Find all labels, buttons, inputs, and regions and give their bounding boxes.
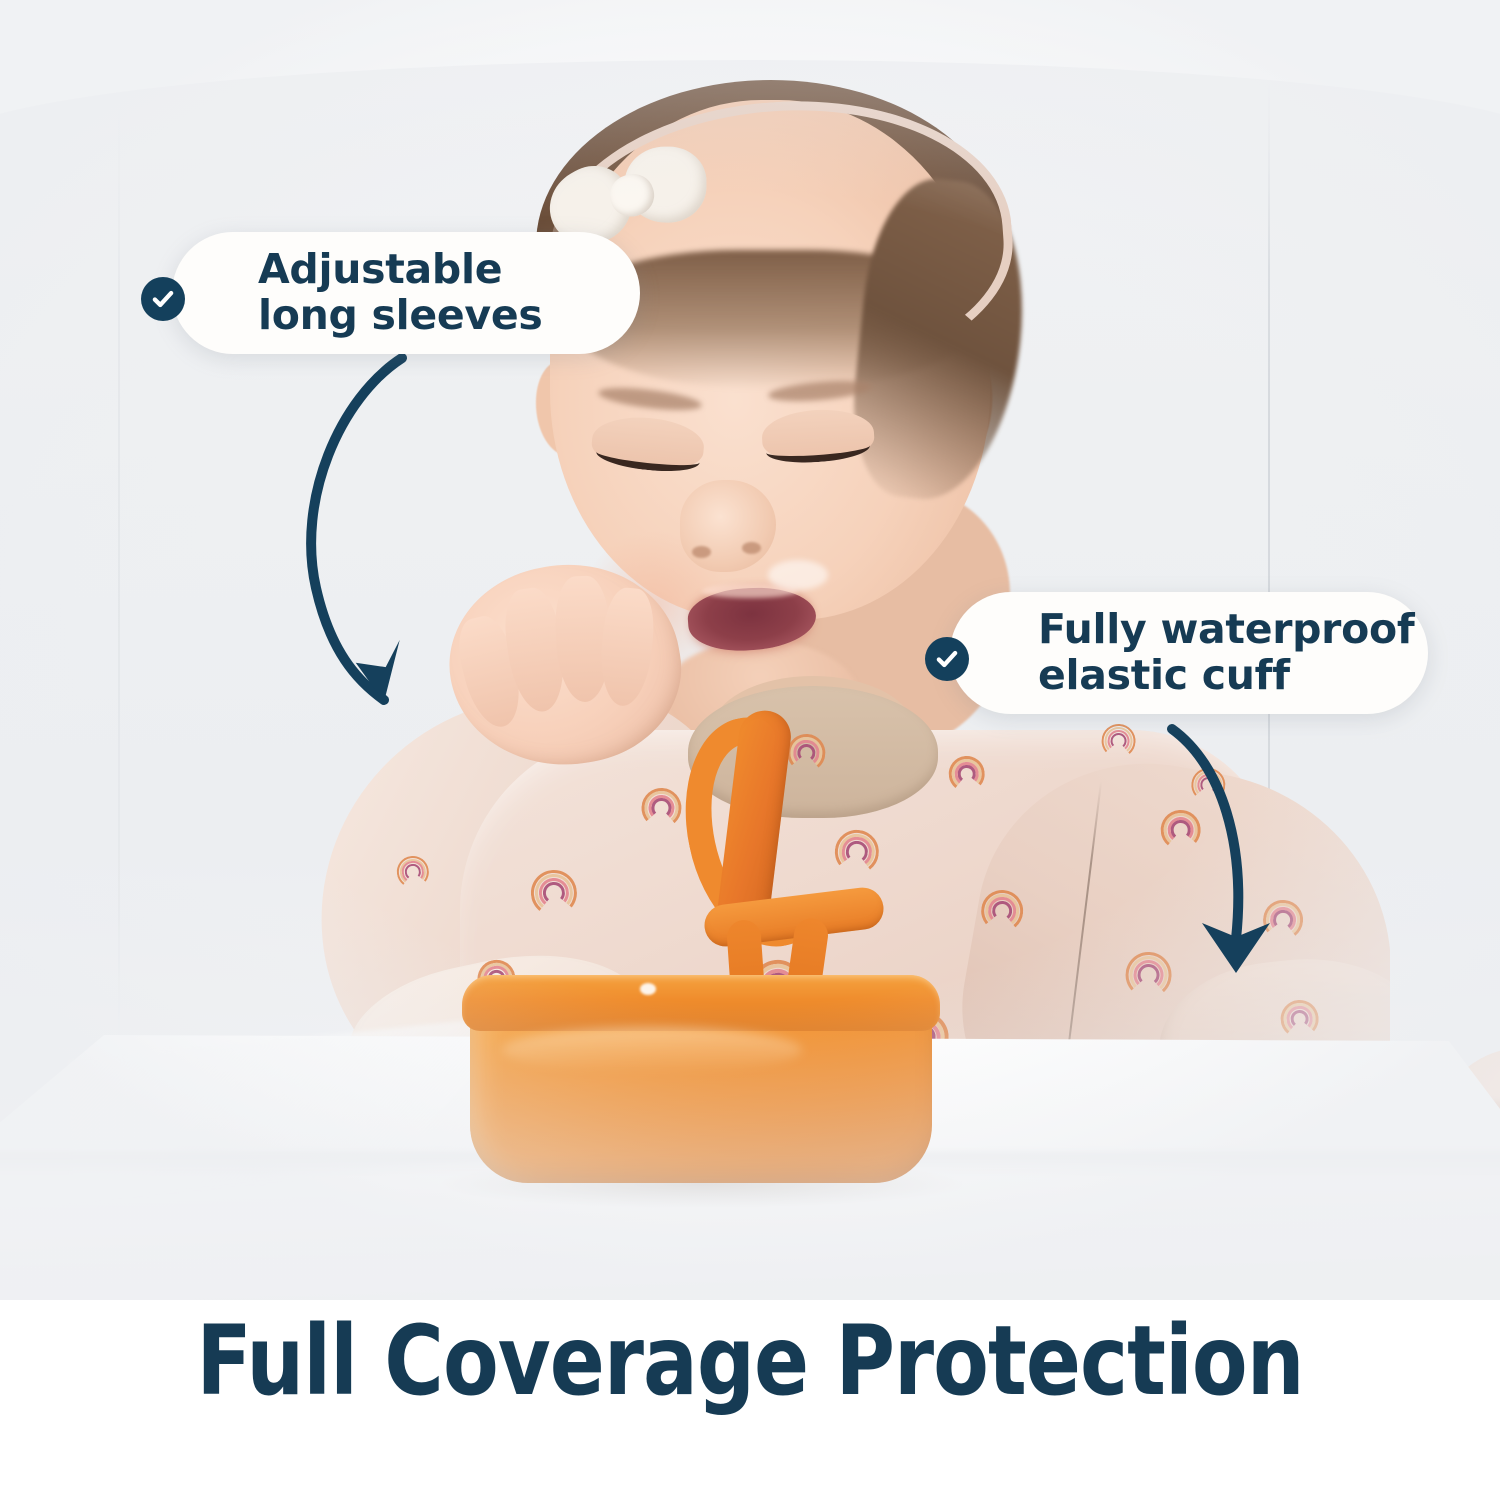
callout-fully-waterproof-elastic-cuff[interactable]: Fully waterproof elastic cuff: [950, 592, 1428, 714]
callout-sleeves-line1: Adjustable: [258, 247, 542, 293]
callout-cuff-text: Fully waterproof elastic cuff: [1038, 607, 1414, 699]
check-circle-icon: [141, 277, 185, 321]
check-circle-icon: [925, 637, 969, 681]
callout-arrow-cuff: [1150, 715, 1310, 990]
product-lifestyle-image: Adjustable long sleeves Fully waterproof…: [0, 0, 1500, 1500]
headline: Full Coverage Protection: [45, 1305, 1455, 1417]
callout-cuff-line1: Fully waterproof: [1038, 607, 1414, 653]
callout-cuff-line2: elastic cuff: [1038, 653, 1414, 699]
callout-adjustable-long-sleeves[interactable]: Adjustable long sleeves: [172, 232, 640, 354]
callout-sleeves-text: Adjustable long sleeves: [258, 247, 542, 339]
callout-sleeves-line2: long sleeves: [258, 293, 542, 339]
product-photo: Adjustable long sleeves Fully waterproof…: [0, 0, 1500, 1300]
callout-arrow-sleeves: [280, 350, 460, 710]
